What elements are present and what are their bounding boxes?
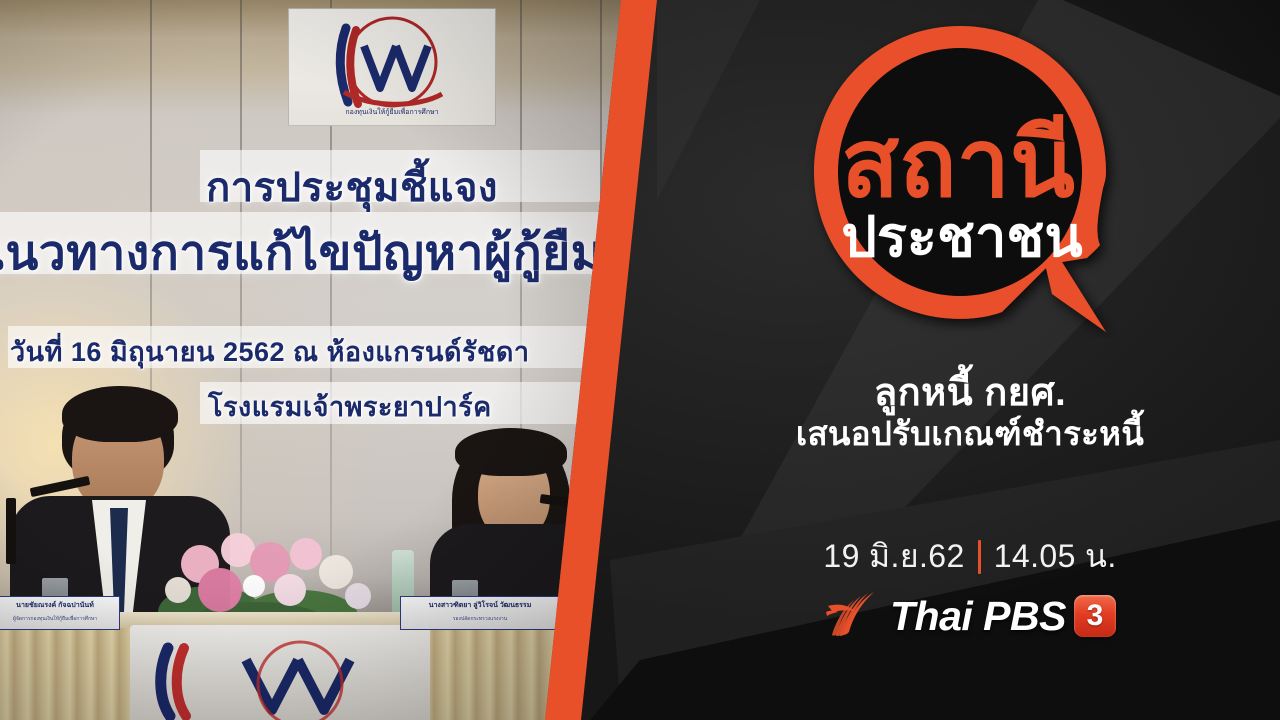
date-time-row: 19 มิ.ย.62 14.05 น. xyxy=(660,531,1280,582)
broadcast-time: 14.05 น. xyxy=(994,531,1117,582)
thaipbs-bird-icon xyxy=(824,590,882,642)
news-headline: ลูกหนี้ กยศ. เสนอปรับเกณฑ์ชำระหนี้ xyxy=(660,372,1280,453)
thaipbs-logo: Thai PBS 3 xyxy=(660,585,1280,647)
headline-line-1: ลูกหนี้ กยศ. xyxy=(660,372,1280,415)
speech-bubble-logo: สถานี ประชาชน xyxy=(800,18,1120,338)
program-logo-line1: สถานี xyxy=(841,111,1075,217)
program-logo-line2: ประชาชน xyxy=(841,205,1082,268)
news-thumbnail: กองทุนเงินให้กู้ยืมเพื่อการศึกษา การประช… xyxy=(0,0,1280,720)
broadcast-date: 19 มิ.ย.62 xyxy=(823,531,964,582)
channel-number-badge: 3 xyxy=(1074,595,1116,637)
headline-line-2: เสนอปรับเกณฑ์ชำระหนี้ xyxy=(660,415,1280,454)
thaipbs-wordmark: Thai PBS xyxy=(890,593,1066,640)
date-time-separator xyxy=(978,540,981,574)
